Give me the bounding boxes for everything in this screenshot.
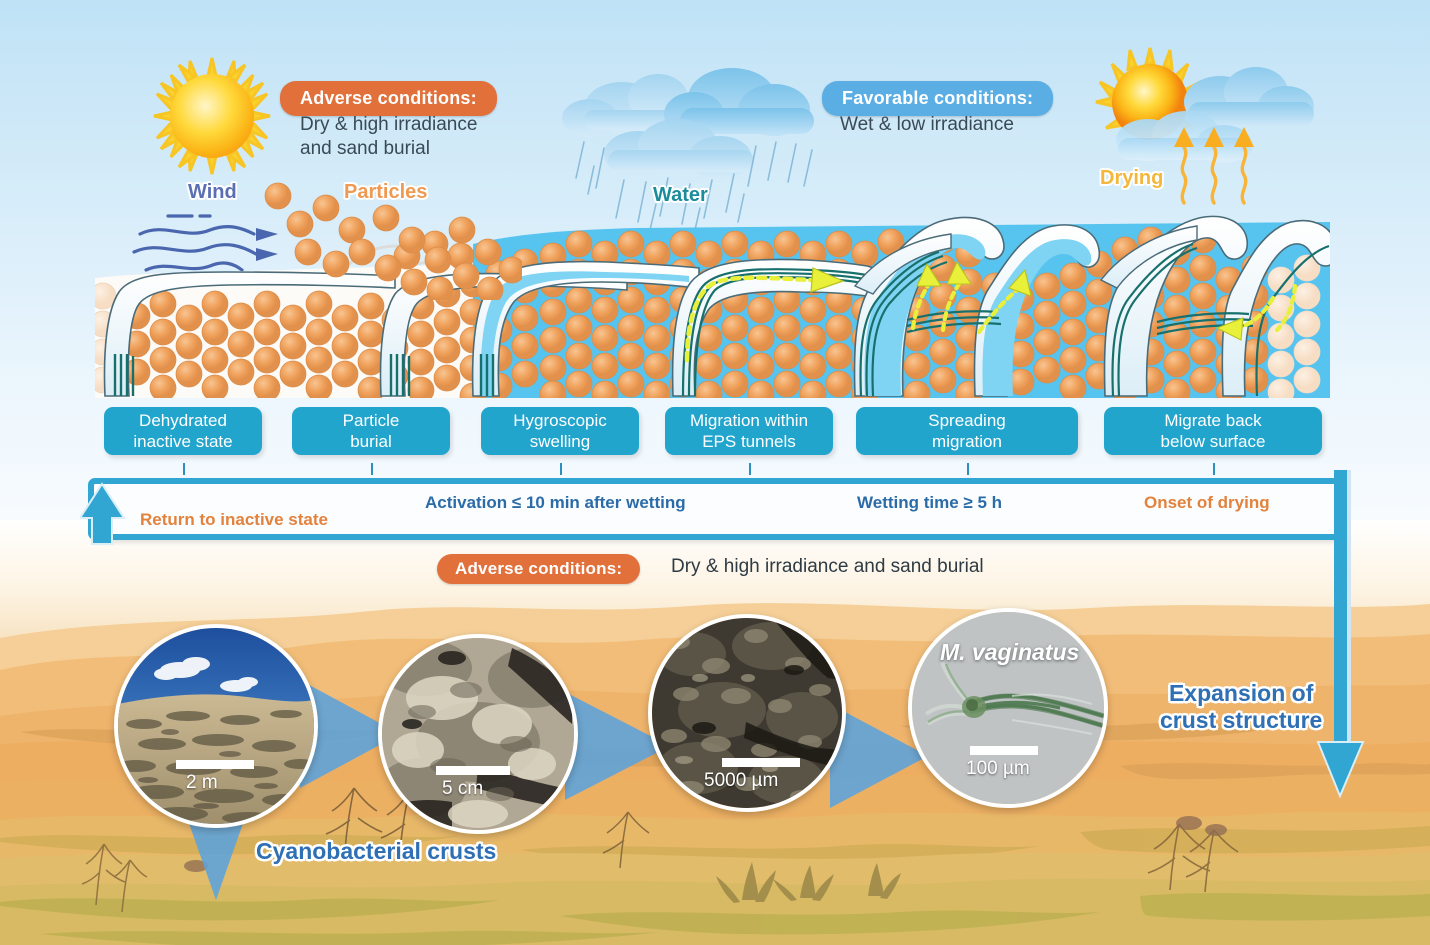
timeline-label-2: Activation ≤ 10 min after wetting [425,493,686,513]
timeline-text-group: Return to inactive stateActivation ≤ 10 … [0,0,1430,560]
mid-adverse-badge: Adverse conditions: [437,554,640,584]
cyanobacterial-crusts-caption: Cyanobacterial crusts [256,838,496,865]
scale-label: 2 m [186,772,218,794]
scale-bar [970,746,1038,755]
expansion-arrow-icon [1316,470,1376,800]
mid-adverse-detail: Dry & high irradiance and sand burial [671,556,984,578]
scale-bar [722,758,800,767]
species-label: M. vaginatus [940,639,1079,666]
scale-label: 100 µm [966,758,1030,780]
microscopy-photo: M. vaginatus 100 µm [908,608,1108,808]
landscape-photo: 2 m [114,624,318,828]
figure-canvas: Adverse conditions: Dry & high irradianc… [0,0,1430,945]
timeline-label-4: Onset of drying [1144,493,1270,513]
scale-label: 5 cm [442,778,483,800]
scale-bar [436,766,510,775]
crust-surface-photo: 5000 µm [648,614,846,812]
crust-macro-photo: 5 cm [378,634,578,834]
scale-label: 5000 µm [704,770,778,792]
timeline-label-1: Return to inactive state [140,510,328,530]
scale-bar [176,760,254,769]
expansion-caption: Expansion of crust structure [1160,680,1322,734]
timeline-label-3: Wetting time ≥ 5 h [857,493,1002,513]
